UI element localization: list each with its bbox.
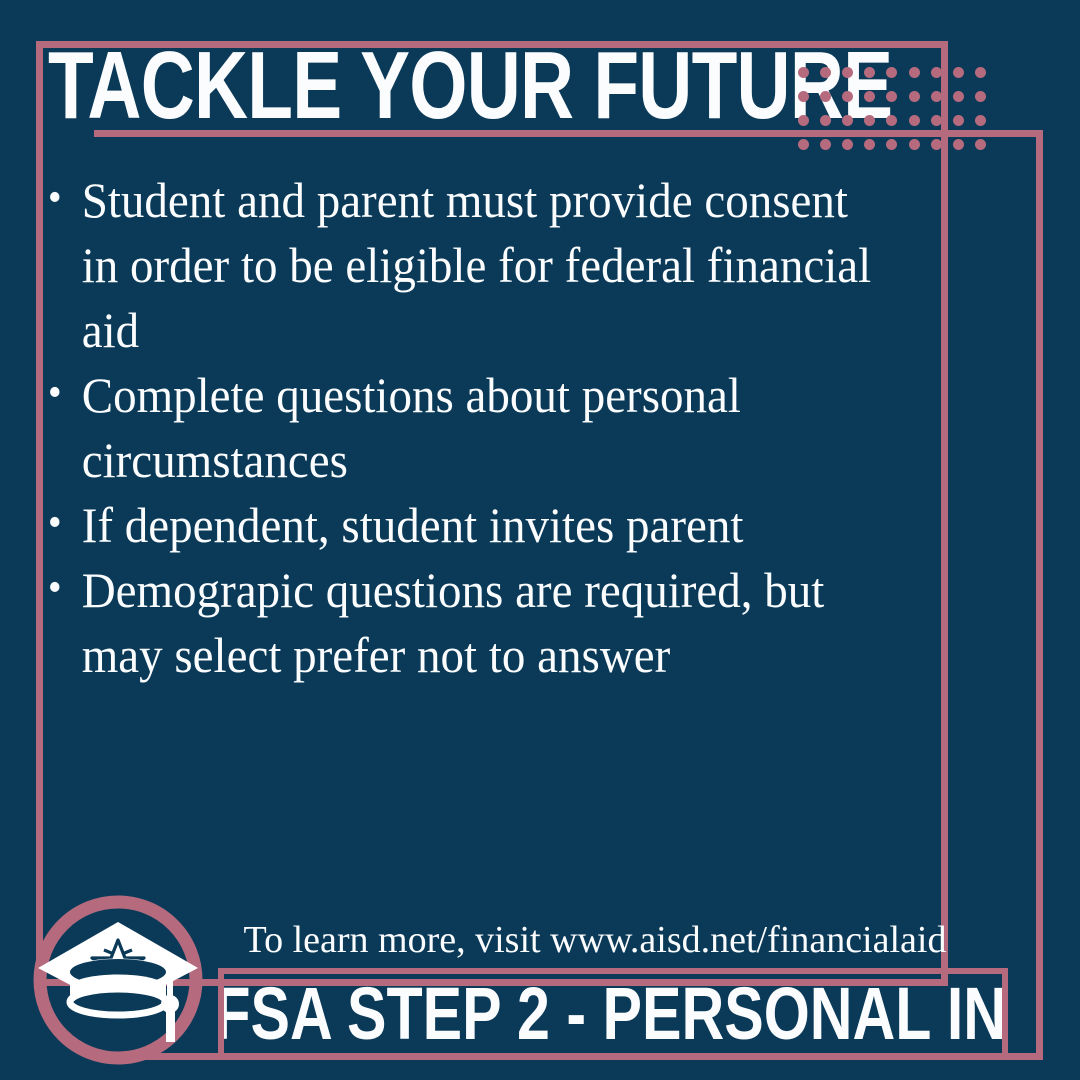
dot	[953, 67, 964, 78]
dot	[909, 115, 920, 126]
list-item: Demograpic questions are required, but m…	[46, 558, 883, 688]
dot	[953, 115, 964, 126]
page-title: TACKLE YOUR FUTURE	[48, 36, 734, 136]
graduation-cap-seal-logo	[30, 892, 206, 1068]
bottom-banner-label: FAFSA STEP 2 - PERSONAL INFO	[218, 976, 1008, 1052]
dot	[798, 139, 809, 150]
bullet-list: Student and parent must provide consent …	[46, 168, 936, 688]
list-item: Complete questions about personal circum…	[46, 363, 883, 493]
dot	[931, 115, 942, 126]
dot	[842, 139, 853, 150]
dot	[886, 139, 897, 150]
bottom-banner: FAFSA STEP 2 - PERSONAL INFO	[218, 968, 1008, 1060]
dot	[975, 115, 986, 126]
dot	[909, 67, 920, 78]
dot	[820, 139, 831, 150]
dot	[864, 139, 875, 150]
dot	[931, 91, 942, 102]
graduation-cap-icon	[30, 892, 206, 1068]
dot	[953, 91, 964, 102]
list-item: If dependent, student invites parent	[46, 493, 883, 558]
dot	[909, 139, 920, 150]
dot	[909, 91, 920, 102]
poster-canvas: TACKLE YOUR FUTURE	[0, 0, 1080, 1080]
dot	[975, 139, 986, 150]
list-item: Student and parent must provide consent …	[46, 168, 883, 363]
dot	[975, 67, 986, 78]
dot	[931, 139, 942, 150]
dot	[975, 91, 986, 102]
footer-url-text: To learn more, visit www.aisd.net/financ…	[210, 916, 980, 964]
dot	[931, 67, 942, 78]
dot	[953, 139, 964, 150]
